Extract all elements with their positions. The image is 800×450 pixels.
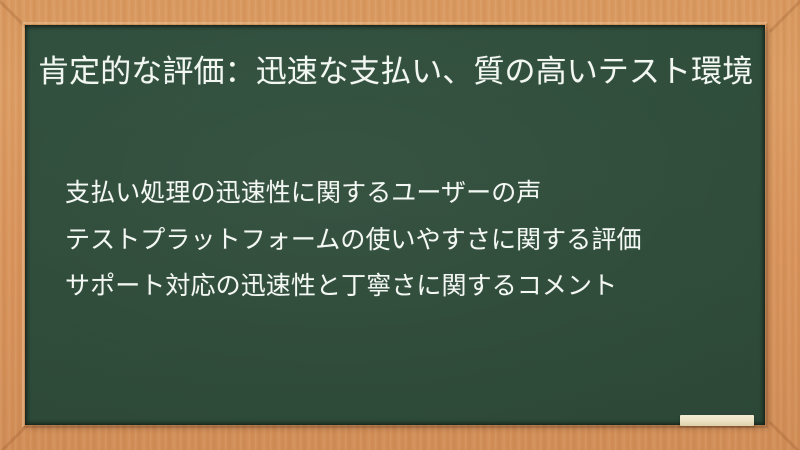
frame-corner-mitre-top-right [769,0,800,33]
list-item: テストプラットフォームの使いやすさに関する評価 [65,222,755,258]
chalk-stick [680,415,754,426]
chalkboard-surface: 肯定的な評価：迅速な支払い、質の高いテスト環境 支払い処理の迅速性に関するユーザ… [25,25,765,425]
list-item: サポート対応の迅速性と丁寧さに関するコメント [65,268,755,304]
blackboard-frame: 肯定的な評価：迅速な支払い、質の高いテスト環境 支払い処理の迅速性に関するユーザ… [0,0,800,450]
board-bullet-list: 支払い処理の迅速性に関するユーザーの声 テストプラットフォームの使いやすさに関す… [65,175,755,304]
frame-corner-mitre-bottom-left [0,421,31,450]
list-item: 支払い処理の迅速性に関するユーザーの声 [65,175,755,211]
board-title: 肯定的な評価：迅速な支払い、質の高いテスト環境 [38,50,756,94]
frame-corner-mitre-bottom-right [769,421,800,450]
